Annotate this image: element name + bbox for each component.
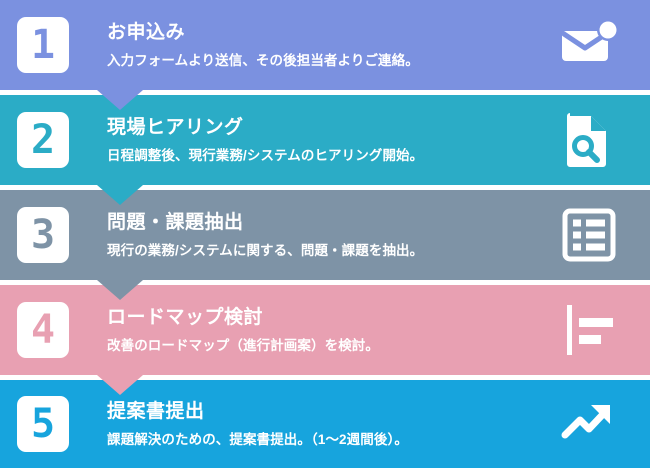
step-title: 現場ヒアリング: [107, 116, 552, 140]
step-number-badge: 5: [17, 396, 69, 452]
step-number-badge: 4: [17, 302, 69, 358]
trend-up-arrow-icon: [558, 393, 620, 455]
step-description: 入力フォームより送信、その後担当者よりご連絡。: [107, 52, 552, 70]
step-number-text: 5: [31, 404, 55, 444]
step-number-text: 3: [31, 215, 55, 255]
process-step-1[interactable]: 1お申込み入力フォームより送信、その後担当者よりご連絡。: [0, 0, 650, 90]
step-icon-container: [552, 393, 626, 455]
step-number-badge: 1: [17, 17, 69, 73]
step-number-badge: 2: [17, 112, 69, 168]
step-number-text: 2: [31, 120, 55, 160]
step-description: 改善のロードマップ（進行計画案）を検討。: [107, 337, 552, 355]
step-icon-container: [552, 299, 626, 361]
step-number-badge: 3: [17, 207, 69, 263]
flow-arrow-3-to-4: [97, 280, 143, 300]
step-text-block: 提案書提出課題解決のための、提案書提出。（1〜2週間後）。: [107, 400, 552, 448]
step-title: お申込み: [107, 21, 552, 45]
step-description: 課題解決のための、提案書提出。（1〜2週間後）。: [107, 431, 552, 449]
step-description: 日程調整後、現行業務/システムのヒアリング開始。: [107, 147, 552, 165]
step-title: 提案書提出: [107, 400, 552, 424]
step-text-block: 現場ヒアリング日程調整後、現行業務/システムのヒアリング開始。: [107, 116, 552, 164]
step-title: ロードマップ検討: [107, 306, 552, 330]
flow-arrow-1-to-2: [97, 90, 143, 110]
flow-arrow-4-to-5: [97, 375, 143, 395]
step-number-text: 4: [31, 310, 55, 350]
step-title: 問題・課題抽出: [107, 211, 552, 235]
list-table-icon: [558, 204, 620, 266]
step-icon-container: [552, 204, 626, 266]
step-text-block: お申込み入力フォームより送信、その後担当者よりご連絡。: [107, 21, 552, 69]
document-search-icon: [558, 109, 620, 171]
process-flow-diagram: 1お申込み入力フォームより送信、その後担当者よりご連絡。2現場ヒアリング日程調整…: [0, 0, 650, 468]
flow-arrow-2-to-3: [97, 185, 143, 205]
step-description: 現行の業務/システムに関する、問題・課題を抽出。: [107, 242, 552, 260]
step-text-block: 問題・課題抽出現行の業務/システムに関する、問題・課題を抽出。: [107, 211, 552, 259]
step-number-text: 1: [31, 25, 55, 65]
step-icon-container: [552, 109, 626, 171]
gantt-bars-icon: [558, 299, 620, 361]
step-text-block: ロードマップ検討改善のロードマップ（進行計画案）を検討。: [107, 306, 552, 354]
envelope-notification-icon: [558, 14, 620, 76]
step-icon-container: [552, 14, 626, 76]
